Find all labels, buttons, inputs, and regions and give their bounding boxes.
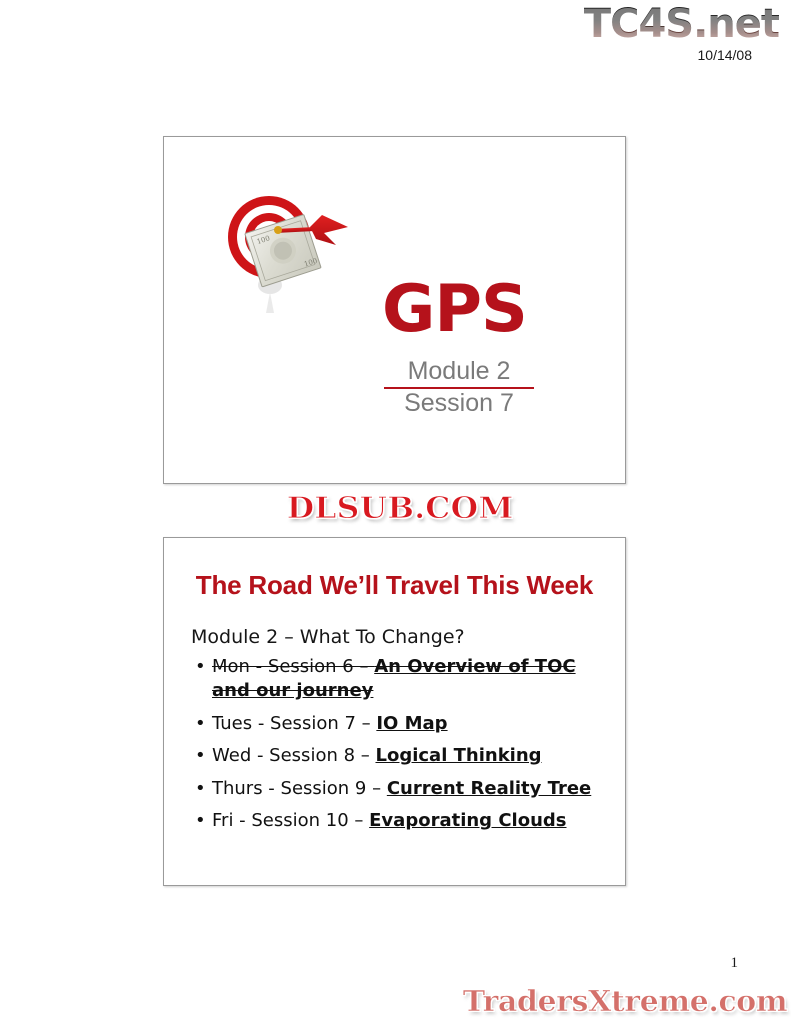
bullet-dot-icon: • bbox=[195, 712, 206, 736]
bullet-topic: IO Map bbox=[376, 713, 447, 734]
bullet-day-session: Thurs - Session 9 – bbox=[212, 778, 387, 799]
bullet-day-session: Fri - Session 10 – bbox=[212, 810, 369, 831]
bullet-dot-icon: • bbox=[195, 655, 206, 679]
bullet-day-session: Tues - Session 7 – bbox=[212, 713, 376, 734]
bullet-dot-icon: • bbox=[195, 777, 206, 801]
agenda-bullet-item: •Mon - Session 6 – An Overview of TOC an… bbox=[191, 655, 607, 704]
slide-1-title-slide: 100 100 GPS Module 2 Session 7 bbox=[163, 136, 626, 484]
gps-wordmark: GPS bbox=[382, 277, 527, 342]
target-dart-money-icon: 100 100 bbox=[224, 189, 354, 319]
header-brand: TC4S.net 10/14/08 bbox=[584, 4, 779, 63]
slide-title: The Road We’ll Travel This Week bbox=[164, 570, 625, 601]
agenda-bullet-item: •Thurs - Session 9 – Current Reality Tre… bbox=[191, 777, 607, 801]
bullet-day-session: Mon - Session 6 – bbox=[212, 656, 374, 677]
bullet-topic: Logical Thinking bbox=[375, 745, 541, 766]
agenda-bullet-item: •Fri - Session 10 – Evaporating Clouds bbox=[191, 809, 607, 833]
bullet-dot-icon: • bbox=[195, 744, 206, 768]
header-date: 10/14/08 bbox=[584, 47, 752, 63]
dlsub-watermark: DLSUB.COM bbox=[246, 491, 553, 526]
tradersxtreme-logo: TradersXtreme.com bbox=[463, 984, 787, 1018]
module-label: Module 2 bbox=[384, 357, 534, 389]
tc4s-site-logo: TC4S.net bbox=[584, 4, 779, 44]
session-label: Session 7 bbox=[384, 389, 534, 418]
bullet-topic: Evaporating Clouds bbox=[369, 810, 566, 831]
page-number: 1 bbox=[731, 955, 739, 972]
slide-2-agenda-slide: The Road We’ll Travel This Week Module 2… bbox=[163, 537, 626, 886]
gps-logo-block: 100 100 GPS Module 2 Session 7 bbox=[224, 185, 574, 425]
bullet-topic: Current Reality Tree bbox=[387, 778, 591, 799]
slide-subhead: Module 2 – What To Change? bbox=[191, 626, 465, 648]
bullet-day-session: Wed - Session 8 – bbox=[212, 745, 375, 766]
agenda-bullet-list: •Mon - Session 6 – An Overview of TOC an… bbox=[191, 655, 607, 842]
agenda-bullet-item: •Wed - Session 8 – Logical Thinking bbox=[191, 744, 607, 768]
agenda-bullet-item: •Tues - Session 7 – IO Map bbox=[191, 712, 607, 736]
bullet-dot-icon: • bbox=[195, 809, 206, 833]
